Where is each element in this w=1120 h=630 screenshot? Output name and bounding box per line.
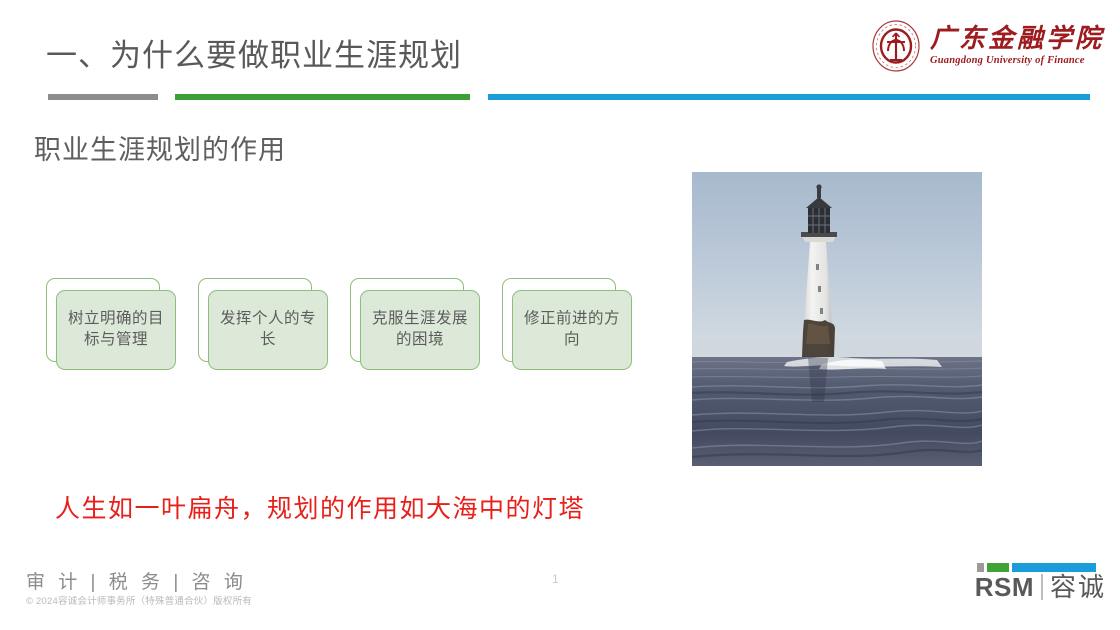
rsm-logo-dashes bbox=[977, 563, 1096, 572]
red-caption: 人生如一叶扁舟，规划的作用如大海中的灯塔 bbox=[55, 489, 585, 525]
rsm-dash-blue-icon bbox=[1012, 563, 1096, 572]
rsm-dash-green-icon bbox=[987, 563, 1009, 572]
rsm-divider bbox=[1041, 574, 1043, 600]
lighthouse-photo bbox=[692, 172, 982, 466]
benefit-box-front-layer: 发挥个人的专长 bbox=[208, 290, 328, 370]
benefit-box-label: 发挥个人的专长 bbox=[215, 309, 321, 351]
rsm-name-cn: 容诚 bbox=[1050, 574, 1106, 600]
university-logo: 广东金融学院 Guangdong University of Finance bbox=[870, 20, 1104, 72]
university-name-cn: 广东金融学院 bbox=[930, 26, 1104, 52]
benefit-box-row: 树立明确的目标与管理 发挥个人的专长 克服生涯发展的困境 修正前进的方向 bbox=[46, 278, 622, 372]
benefit-box-label: 修正前进的方向 bbox=[519, 309, 625, 351]
benefit-box-label: 克服生涯发展的困境 bbox=[367, 309, 473, 351]
page-title: 一、为什么要做职业生涯规划 bbox=[46, 30, 462, 75]
section-subtitle: 职业生涯规划的作用 bbox=[34, 128, 286, 167]
university-name-en: Guangdong University of Finance bbox=[930, 56, 1085, 67]
accent-bar-blue bbox=[488, 94, 1090, 100]
footer-services: 审 计 | 税 务 | 咨 询 bbox=[26, 567, 247, 594]
lighthouse-photo-graphic bbox=[692, 172, 982, 466]
footer-copyright: © 2024容诚会计师事务所（特殊普通合伙）版权所有 bbox=[26, 593, 252, 607]
benefit-box: 修正前进的方向 bbox=[502, 278, 622, 372]
benefit-box-front-layer: 树立明确的目标与管理 bbox=[56, 290, 176, 370]
rsm-wordmark: RSM bbox=[975, 574, 1034, 600]
university-emblem-icon bbox=[870, 20, 922, 72]
rsm-logo-text-row: RSM 容诚 bbox=[975, 574, 1106, 600]
benefit-box: 树立明确的目标与管理 bbox=[46, 278, 166, 372]
benefit-box-label: 树立明确的目标与管理 bbox=[63, 309, 169, 351]
accent-bar-green bbox=[175, 94, 470, 100]
slide-canvas: 一、为什么要做职业生涯规划 广东金融学院 Guangdong Universit… bbox=[0, 0, 1120, 630]
rsm-logo: RSM 容诚 bbox=[975, 563, 1106, 600]
benefit-box: 克服生涯发展的困境 bbox=[350, 278, 470, 372]
page-number: 1 bbox=[552, 572, 559, 586]
benefit-box-front-layer: 克服生涯发展的困境 bbox=[360, 290, 480, 370]
benefit-box-front-layer: 修正前进的方向 bbox=[512, 290, 632, 370]
rsm-dash-gray-icon bbox=[977, 563, 984, 572]
accent-bar-gray bbox=[48, 94, 158, 100]
benefit-box: 发挥个人的专长 bbox=[198, 278, 318, 372]
